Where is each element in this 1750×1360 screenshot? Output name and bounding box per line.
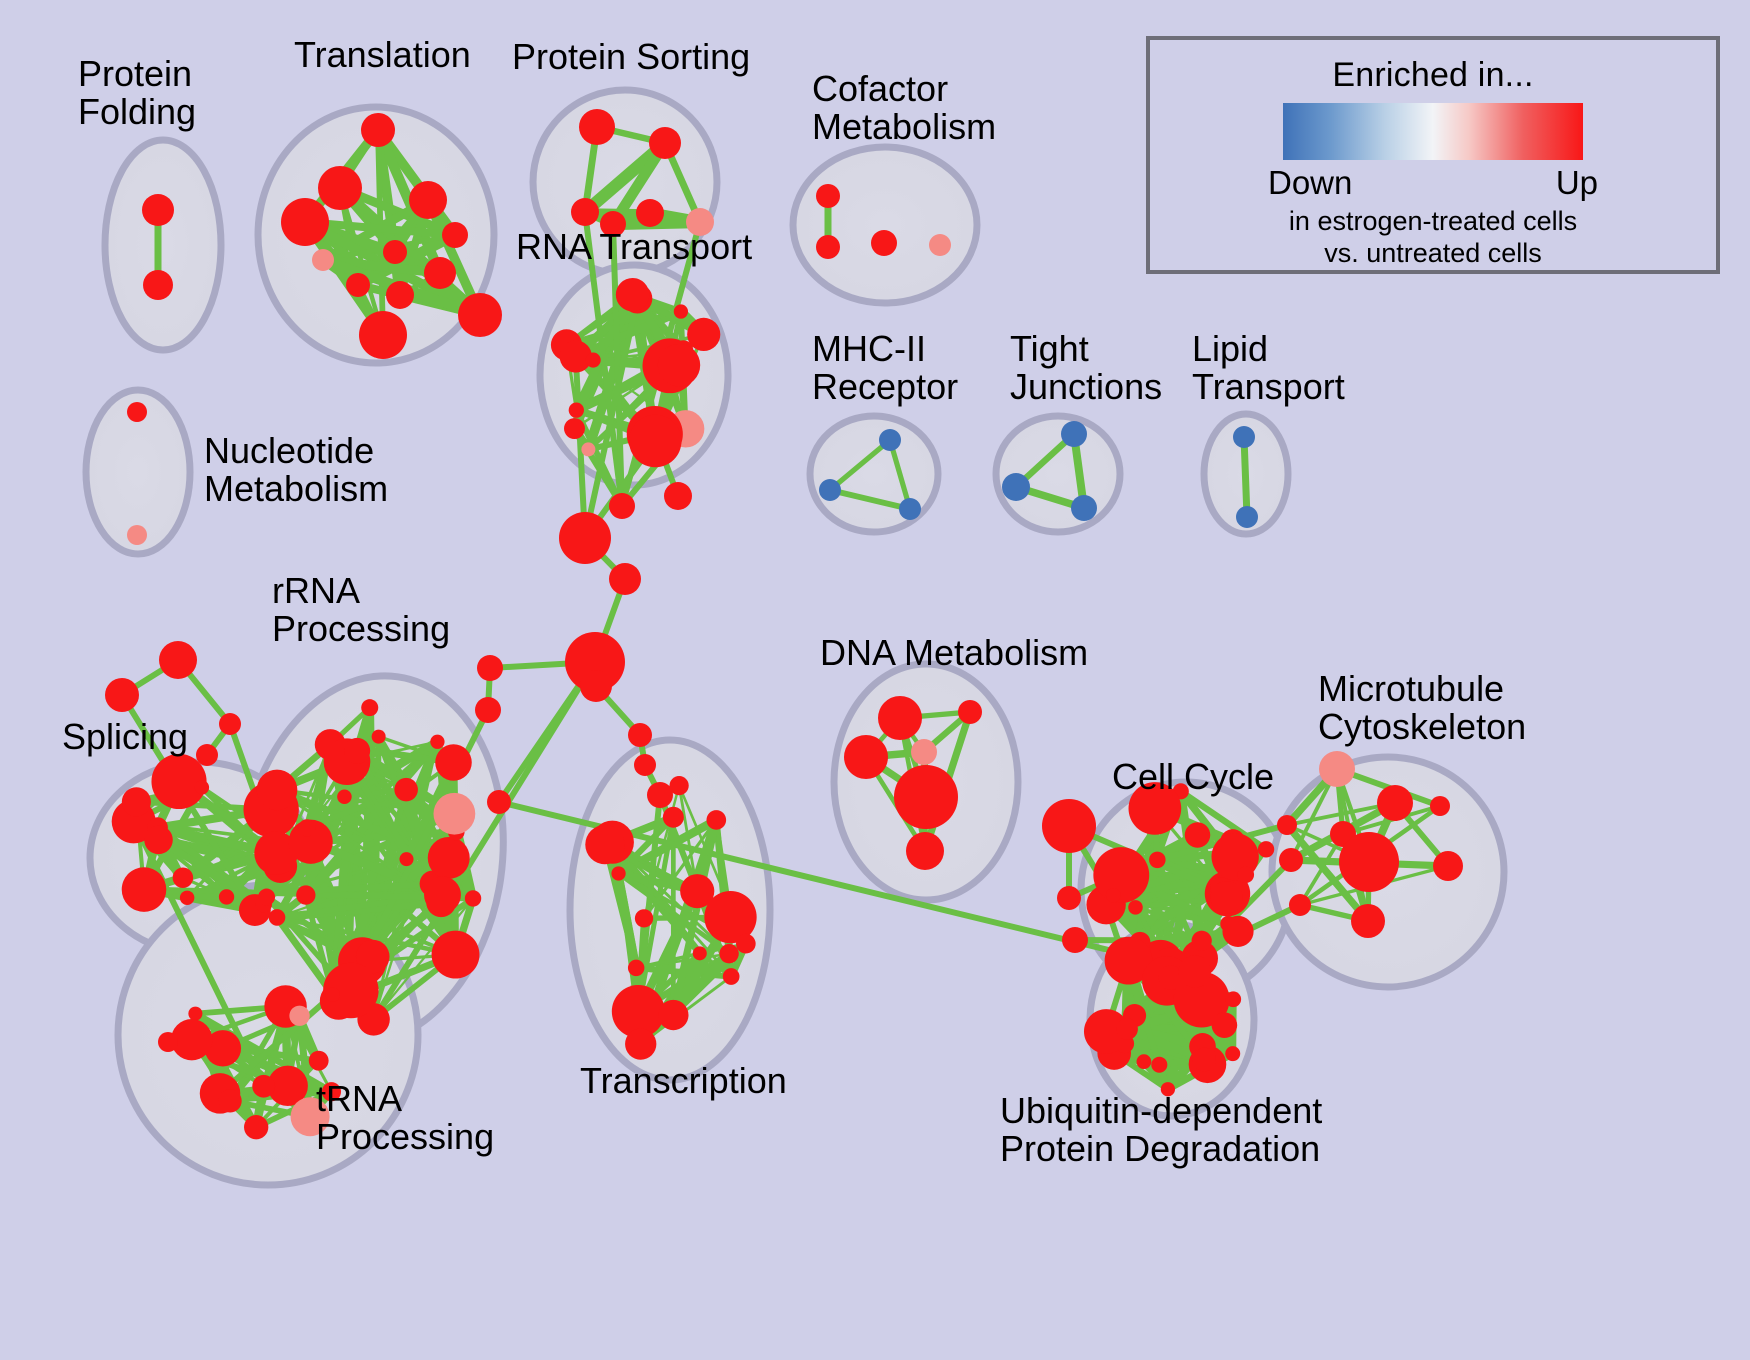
network-node [312,249,334,271]
network-node [1071,495,1097,521]
network-node [298,819,315,836]
network-node [144,826,173,855]
network-node [658,344,700,386]
network-node [244,1115,268,1139]
network-node [219,889,234,904]
network-node [219,713,241,735]
cluster-label-tight-junctions: Tight Junctions [1010,330,1162,406]
network-node [433,793,475,835]
network-node [383,240,407,264]
network-node [581,442,595,456]
network-node [906,832,944,870]
network-node [196,744,218,766]
network-node [219,1089,242,1112]
network-node [361,113,395,147]
network-node [1233,426,1255,448]
network-node [635,909,653,927]
network-node [1222,916,1253,947]
network-node [664,482,692,510]
network-node [1002,473,1030,501]
network-node [442,222,468,248]
network-node [609,563,641,595]
network-node [1279,848,1303,872]
network-node [894,765,958,829]
network-node [326,988,340,1002]
cluster-label-mhc-ii-receptor: MHC-II Receptor [812,330,958,406]
network-node [252,1075,275,1098]
network-node [289,1006,309,1026]
network-node [647,782,673,808]
network-node [663,807,684,828]
network-node [477,655,503,681]
network-edge [1244,437,1247,517]
network-node [127,525,147,545]
cluster-label-protein-folding: Protein Folding [78,55,196,131]
network-node [142,194,174,226]
legend-panel: Enriched in... Down Up in estrogen-treat… [1146,36,1720,274]
network-node [1277,815,1297,835]
cluster-label-transcription: Transcription [580,1062,787,1100]
network-node [435,744,472,781]
network-node [628,723,652,747]
network-node [1185,822,1211,848]
network-node [309,1051,329,1071]
network-node [723,968,740,985]
cluster-label-dna-metabolism: DNA Metabolism [820,634,1088,672]
network-node [819,479,841,501]
cluster-label-lipid-transport: Lipid Transport [1192,330,1345,406]
network-node [428,837,470,879]
network-node [1210,881,1243,914]
network-node [586,353,601,368]
legend-gradient-bar [1283,103,1583,160]
network-node [346,273,370,297]
network-node [911,739,937,765]
network-node [636,199,664,227]
cluster-label-rna-transport: RNA Transport [516,228,752,266]
cluster-label-trna-processing: tRNA Processing [316,1080,494,1156]
network-node [318,166,362,210]
network-node [400,852,414,866]
cluster-label-ubiquitin-degradation: Ubiquitin-dependent Protein Degradation [1000,1092,1322,1168]
cluster-label-nucleotide-metabolism: Nucleotide Metabolism [204,432,388,508]
network-node [871,230,897,256]
network-node [1192,931,1212,951]
network-node [1106,888,1121,903]
network-node [344,738,370,764]
network-node [1377,785,1413,821]
network-node [1319,751,1355,787]
network-node [1178,955,1210,987]
network-node [195,780,209,794]
network-node [487,790,511,814]
cluster-label-splicing: Splicing [62,718,188,756]
network-node [1236,506,1258,528]
network-node [1258,841,1274,857]
network-node [394,778,418,802]
network-node [1151,1057,1167,1073]
network-node [579,109,615,145]
cluster-label-microtubule-cytoskeleton: Microtubule Cytoskeleton [1318,670,1526,746]
network-node [281,198,329,246]
cluster-hull-cofactor-metabolism [793,147,977,303]
network-node [127,402,147,422]
network-node [693,946,707,960]
cluster-label-translation: Translation [294,36,471,74]
network-node [674,304,688,318]
legend-low-label: Down [1268,164,1352,202]
network-node [188,1007,202,1021]
network-node [649,127,681,159]
network-node [687,318,720,351]
network-node [559,512,611,564]
network-node [1057,886,1081,910]
network-node [625,1028,656,1059]
network-node [1430,796,1450,816]
network-node [1149,852,1166,869]
network-node [458,293,502,337]
network-node [816,235,840,259]
network-node [816,184,840,208]
network-node [159,641,197,679]
cluster-label-cell-cycle: Cell Cycle [1112,758,1274,796]
cluster-hull-protein-folding [105,140,221,350]
network-node [844,735,888,779]
network-node [1289,894,1311,916]
network-node [564,418,585,439]
network-node [143,270,173,300]
network-node [1339,832,1399,892]
network-node [475,697,501,723]
network-node [1212,1012,1238,1038]
network-node [571,198,599,226]
network-node [122,867,167,912]
network-node [359,311,407,359]
legend-sublabel: in estrogen-treated cells vs. untreated … [1289,206,1577,270]
network-node [337,790,352,805]
network-node [1042,799,1096,853]
network-node [1238,866,1255,883]
network-node [899,498,921,520]
legend-sublabel-line1: in estrogen-treated cells [1289,206,1577,238]
legend-high-label: Up [1556,164,1598,202]
network-node [616,278,649,311]
network-node [1093,847,1149,903]
network-node [634,754,656,776]
network-node [105,678,139,712]
cluster-label-protein-sorting: Protein Sorting [512,38,750,76]
network-node [736,934,756,954]
network-node [1116,1018,1138,1040]
network-node [658,1000,688,1030]
network-node [424,876,461,913]
legend-title: Enriched in... [1332,56,1533,95]
network-node [1061,421,1087,447]
network-node [122,787,151,816]
network-node [929,234,951,256]
network-node [409,181,447,219]
network-node [296,885,315,904]
network-node [1225,991,1241,1007]
network-node [430,735,444,749]
network-node [609,493,635,519]
network-node [569,403,584,418]
network-node [158,1032,178,1052]
network-node [1351,904,1385,938]
network-node [878,696,922,740]
network-node [1137,1054,1152,1069]
network-node [629,415,681,467]
network-node [719,944,738,963]
network-node [372,730,386,744]
network-node [879,429,901,451]
network-node [173,867,194,888]
network-node [180,891,194,905]
enrichment-map-figure: Protein FoldingTranslationProtein Sortin… [0,0,1750,1360]
network-node [611,866,625,880]
network-node [1225,1046,1240,1061]
network-node [958,700,982,724]
network-node [1192,1048,1216,1072]
legend-sublabel-line2: vs. untreated cells [1289,238,1577,270]
network-node [706,810,726,830]
network-node [432,931,480,979]
network-node [585,825,624,864]
network-node [1062,927,1088,953]
network-node [1128,900,1143,915]
network-node [386,281,414,309]
network-node [1433,851,1463,881]
network-node [257,770,298,811]
cluster-label-cofactor-metabolism: Cofactor Metabolism [812,70,996,146]
network-node [465,890,481,906]
network-node [628,960,644,976]
network-node [580,670,612,702]
network-node [258,889,275,906]
network-node [269,909,286,926]
cluster-label-rrna-processing: rRNA Processing [272,572,450,648]
network-node [361,699,378,716]
network-node [424,257,456,289]
